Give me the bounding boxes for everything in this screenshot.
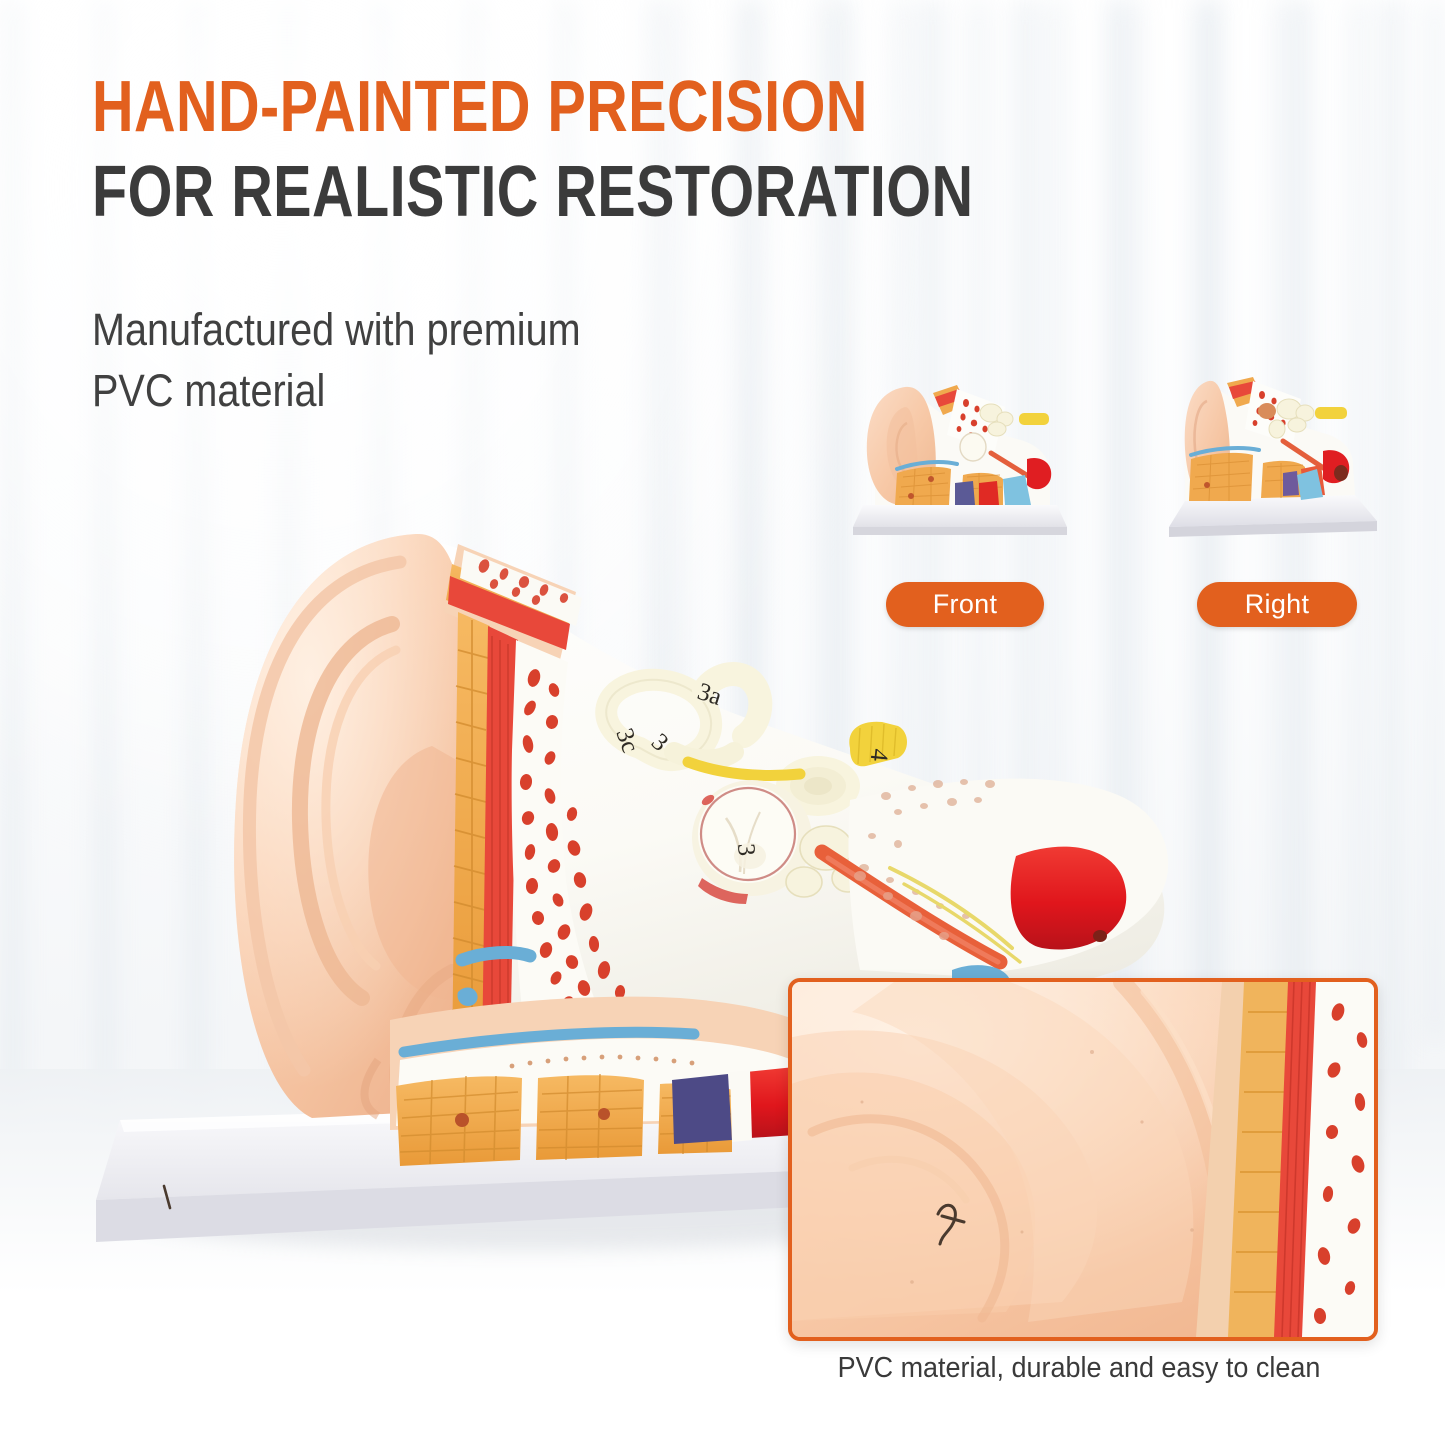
headline-line-2: FOR REALISTIC RESTORATION — [92, 157, 892, 228]
label-3-drum: 3 — [732, 843, 760, 857]
product-banner: HAND-PAINTED PRECISION FOR REALISTIC RES… — [0, 0, 1445, 1445]
foramen-hole-mid — [598, 1108, 610, 1120]
detail-inset-panel — [788, 978, 1378, 1341]
subheadline-block: Manufactured with premium PVC material — [92, 300, 761, 422]
foramen-hole-left — [455, 1113, 469, 1127]
headline-block: HAND-PAINTED PRECISION FOR REALISTIC RES… — [92, 72, 1092, 227]
vein-upper — [462, 953, 530, 960]
subheadline-line-2: PVC material — [92, 361, 761, 422]
subheadline-line-1: Manufactured with premium — [92, 300, 761, 361]
sigmoid-sinus-block — [672, 1074, 732, 1144]
headline-line-1: HAND-PAINTED PRECISION — [92, 72, 892, 143]
ear-closeup-illustration — [792, 982, 1374, 1337]
inset-caption: PVC material, durable and easy to clean — [808, 1352, 1349, 1385]
